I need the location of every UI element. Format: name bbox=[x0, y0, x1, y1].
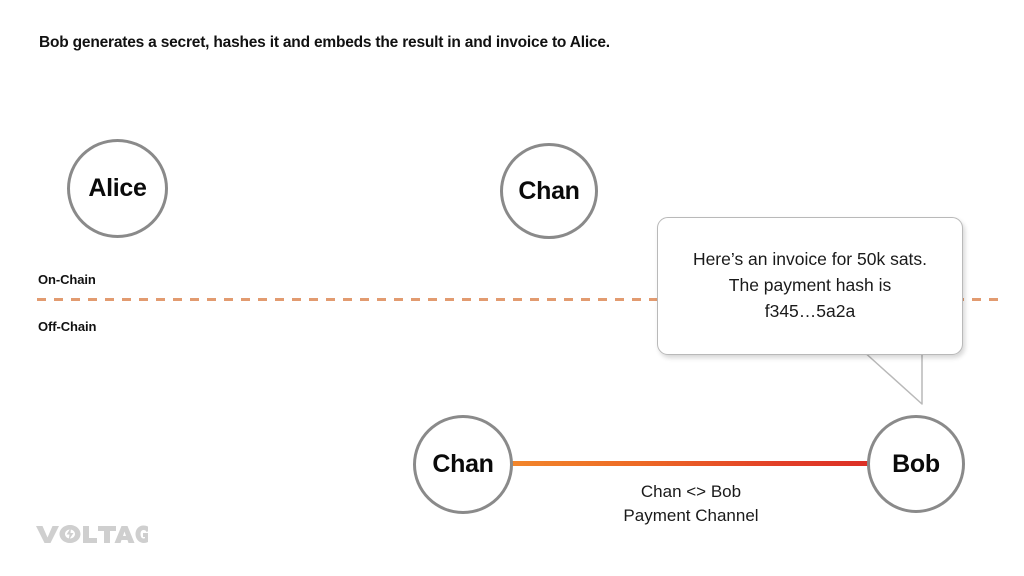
voltage-wordmark-icon bbox=[36, 524, 148, 544]
node-chan-on-chain-label: Chan bbox=[518, 179, 579, 204]
node-bob-label: Bob bbox=[892, 452, 940, 477]
node-alice-label: Alice bbox=[88, 176, 146, 201]
node-chan-off-chain[interactable]: Chan bbox=[413, 415, 513, 514]
page-title: Bob generates a secret, hashes it and em… bbox=[39, 34, 610, 52]
payment-channel-caption-line1: Chan <> Bob bbox=[520, 480, 862, 504]
speech-bubble-line1: Here’s an invoice for 50k sats. bbox=[693, 247, 927, 273]
speech-bubble-line3: f345…5a2a bbox=[693, 299, 927, 325]
payment-channel-caption: Chan <> Bob Payment Channel bbox=[520, 480, 862, 528]
node-chan-off-chain-label: Chan bbox=[432, 452, 493, 477]
voltage-logo bbox=[36, 524, 148, 544]
speech-bubble-tail-icon bbox=[860, 348, 940, 410]
node-alice[interactable]: Alice bbox=[67, 139, 168, 238]
off-chain-label: Off-Chain bbox=[38, 319, 96, 334]
speech-bubble: Here’s an invoice for 50k sats. The paym… bbox=[657, 217, 963, 355]
payment-channel-link bbox=[511, 461, 869, 466]
on-chain-label: On-Chain bbox=[38, 272, 96, 287]
node-chan-on-chain[interactable]: Chan bbox=[500, 143, 598, 239]
speech-bubble-line2: The payment hash is bbox=[693, 273, 927, 299]
speech-bubble-text: Here’s an invoice for 50k sats. The paym… bbox=[679, 247, 941, 325]
payment-channel-caption-line2: Payment Channel bbox=[520, 504, 862, 528]
node-bob[interactable]: Bob bbox=[867, 415, 965, 513]
slide-canvas: Bob generates a secret, hashes it and em… bbox=[0, 0, 1024, 576]
